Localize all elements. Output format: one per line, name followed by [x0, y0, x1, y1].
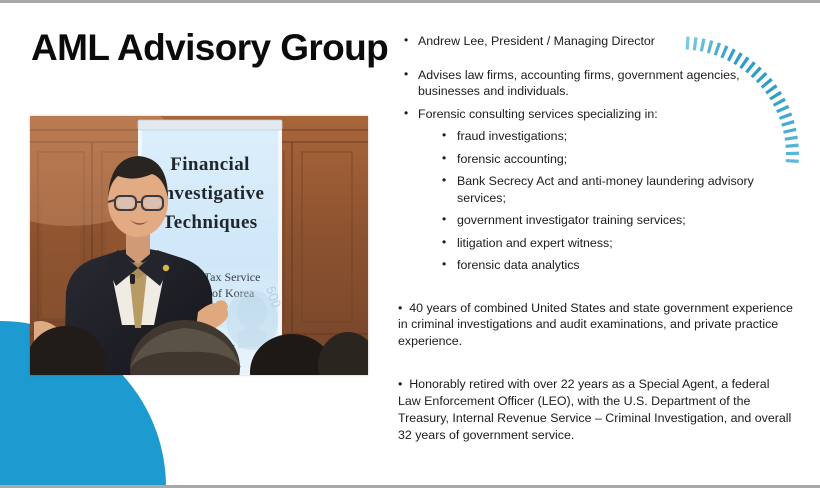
sub-bullet-text: forensic accounting; — [457, 151, 794, 168]
spacer — [398, 274, 794, 291]
presentation-photo: Financial Investigative Techniques Natio… — [30, 116, 368, 375]
sub-bullet-item: • litigation and expert witness; — [442, 235, 794, 252]
sub-bullet-item: • Bank Secrecy Act and anti-money launde… — [442, 173, 794, 206]
sub-bullet-text: Bank Secrecy Act and anti-money launderi… — [457, 173, 794, 206]
bullet-dot-icon: • — [404, 106, 418, 122]
paragraph-text: 40 years of combined United States and s… — [398, 301, 793, 349]
sub-bullet-text: litigation and expert witness; — [457, 235, 794, 252]
sub-bullet-text: fraud investigations; — [457, 128, 794, 145]
sub-bullet-text: government investigator training service… — [457, 212, 794, 229]
bullet-dot-icon: • — [442, 151, 457, 167]
svg-text:Investigative: Investigative — [156, 183, 265, 204]
bullet-item: • Forensic consulting services specializ… — [404, 106, 794, 123]
bullet-text: Advises law firms, accounting firms, gov… — [418, 67, 794, 100]
bullet-item: • Advises law firms, accounting firms, g… — [404, 67, 794, 100]
content-column: • Andrew Lee, President / Managing Direc… — [398, 33, 794, 444]
sub-bullet-item: • government investigator training servi… — [442, 212, 794, 229]
sub-bullet-text: forensic data analytics — [457, 257, 794, 274]
bullet-dot-icon: • — [442, 235, 457, 251]
bullet-text: Andrew Lee, President / Managing Directo… — [418, 33, 794, 50]
bullet-dot-icon: • — [442, 128, 457, 144]
spacer — [398, 350, 794, 367]
bullet-item: • Andrew Lee, President / Managing Direc… — [404, 33, 794, 50]
spacer — [398, 367, 794, 376]
bullet-dot-icon: • — [442, 257, 457, 273]
slide-title: AML Advisory Group — [31, 27, 388, 69]
photo-illustration: Financial Investigative Techniques Natio… — [30, 116, 368, 375]
sub-bullet-item: • fraud investigations; — [442, 128, 794, 145]
bullet-dot-icon: • — [442, 212, 457, 228]
bullet-dot-icon: • — [404, 33, 418, 49]
svg-text:Techniques: Techniques — [162, 212, 257, 233]
paragraph-block: • Honorably retired with over 22 years a… — [398, 376, 794, 443]
slide-canvas: AML Advisory Group — [0, 0, 820, 488]
sub-bullet-item: • forensic accounting; — [442, 151, 794, 168]
spacer — [398, 291, 794, 300]
svg-text:Financial: Financial — [170, 154, 250, 175]
bullet-text: Forensic consulting services specializin… — [418, 106, 794, 123]
spacer — [398, 50, 794, 67]
bullet-dot-icon: • — [404, 67, 418, 83]
paragraph-text: Honorably retired with over 22 years as … — [398, 377, 791, 442]
paragraph-block: • 40 years of combined United States and… — [398, 300, 794, 351]
sub-bullet-item: • forensic data analytics — [442, 257, 794, 274]
bullet-dot-icon: • — [442, 173, 457, 189]
